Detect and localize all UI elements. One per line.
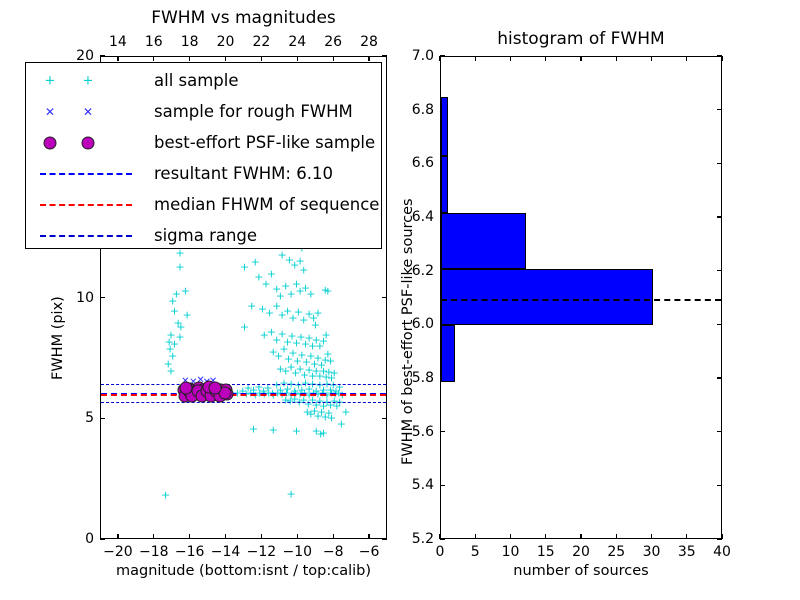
histogram-bar	[441, 213, 526, 269]
hist-x-tick-top	[510, 56, 511, 61]
hist-x-tick-top	[686, 56, 687, 61]
hist-y-tick-label: 5.2	[398, 531, 434, 547]
legend-key	[26, 189, 154, 220]
hist-y-tick	[440, 431, 445, 432]
median-fwhm-line	[101, 394, 386, 396]
x-tick	[333, 534, 334, 539]
bottom-tick-label: −6	[359, 544, 380, 560]
right-plot-xlabel: number of sources	[440, 563, 722, 579]
top-tick-label: 28	[360, 34, 378, 50]
hist-y-tick-right	[717, 216, 722, 217]
top-axis-tick	[225, 56, 226, 61]
legend-item-label: median FHWM of sequence	[154, 195, 379, 214]
bottom-tick-label: −12	[247, 544, 277, 560]
hist-x-tick	[510, 534, 511, 539]
all-sample-point: +	[249, 423, 258, 434]
right-plot-title: histogram of FWHM	[440, 29, 722, 49]
hist-y-tick-label: 5.4	[398, 477, 434, 493]
hist-y-tick	[440, 485, 445, 486]
all-sample-point: +	[269, 425, 278, 436]
x-tick	[153, 534, 154, 539]
cross-icon: ✕	[83, 105, 93, 119]
legend-item: best-effort PSF-like sample	[26, 127, 381, 158]
all-sample-point: +	[166, 365, 175, 376]
bottom-tick-label: −8	[323, 544, 344, 560]
top-axis-tick	[297, 56, 298, 61]
plus-icon: +	[83, 73, 94, 88]
all-sample-point: +	[323, 286, 332, 297]
sigma-lower-line	[101, 402, 386, 403]
hist-x-tick-label: 25	[607, 544, 625, 560]
hist-x-tick-label: 10	[502, 544, 520, 560]
hist-y-tick-right	[717, 538, 722, 539]
y-tick-right	[382, 297, 387, 298]
all-sample-point: +	[327, 413, 336, 424]
psf-sample-point	[180, 381, 193, 394]
hist-x-tick-top	[439, 56, 440, 61]
hist-x-tick	[580, 534, 581, 539]
hist-x-tick-top	[651, 56, 652, 61]
top-tick-label: 18	[181, 34, 199, 50]
legend-key: ✕✕	[26, 96, 154, 127]
filled-dot-icon	[82, 136, 95, 149]
x-tick	[297, 534, 298, 539]
top-axis-tick	[117, 56, 118, 61]
x-tick	[189, 534, 190, 539]
top-axis-tick	[333, 56, 334, 61]
y-tick-right	[382, 55, 387, 56]
y-tick	[100, 55, 105, 56]
y-tick	[100, 538, 105, 539]
x-tick	[368, 534, 369, 539]
x-tick	[225, 534, 226, 539]
legend: ++all sample✕✕sample for rough FWHMbest-…	[25, 62, 382, 249]
hist-y-tick-right	[717, 109, 722, 110]
all-sample-point: +	[287, 489, 296, 500]
x-tick	[117, 534, 118, 539]
hist-x-tick-label: 5	[471, 544, 480, 560]
resultant-fwhm-line	[441, 299, 721, 301]
top-tick-label: 24	[288, 34, 306, 50]
hist-y-tick-right	[717, 270, 722, 271]
top-axis-tick	[189, 56, 190, 61]
all-sample-point: +	[251, 257, 260, 268]
hist-x-tick-top	[721, 56, 722, 61]
hist-y-tick-label: 6.8	[398, 102, 434, 118]
hist-y-tick-right	[717, 55, 722, 56]
hist-x-tick	[651, 534, 652, 539]
all-sample-point: +	[170, 305, 179, 316]
hist-x-tick-top	[545, 56, 546, 61]
legend-item-label: resultant FWHM: 6.10	[154, 164, 333, 183]
left-plot-xlabel: magnitude (bottom:isnt / top:calib)	[100, 563, 387, 579]
hist-y-tick-right	[717, 324, 722, 325]
legend-key: ++	[26, 65, 154, 96]
hist-x-tick-label: 30	[643, 544, 661, 560]
legend-item-label: best-effort PSF-like sample	[154, 133, 375, 152]
left-plot-ylabel: FWHM (pix)	[50, 296, 66, 380]
hist-x-tick	[686, 534, 687, 539]
all-sample-point: +	[313, 307, 322, 318]
hist-y-tick-right	[717, 485, 722, 486]
hist-y-tick	[440, 538, 445, 539]
hist-y-tick-label: 7.0	[398, 48, 434, 64]
all-sample-point: +	[306, 288, 315, 299]
legend-item-label: sigma range	[154, 226, 257, 245]
y-tick-right	[382, 418, 387, 419]
sigma-upper-line	[101, 384, 386, 385]
legend-item: median FHWM of sequence	[26, 189, 381, 220]
hist-y-tick-right	[717, 377, 722, 378]
all-sample-point: +	[319, 427, 328, 438]
hist-y-tick-right	[717, 163, 722, 164]
bottom-tick-label: −14	[211, 544, 241, 560]
all-sample-point: +	[240, 322, 249, 333]
top-tick-label: 20	[217, 34, 235, 50]
y-tick	[100, 418, 105, 419]
bottom-tick-label: −18	[139, 544, 169, 560]
all-sample-point: +	[337, 419, 346, 430]
top-axis-tick	[153, 56, 154, 61]
top-tick-label: 16	[145, 34, 163, 50]
all-sample-point: +	[311, 320, 320, 331]
legend-item: resultant FWHM: 6.10	[26, 158, 381, 189]
hist-x-tick	[616, 534, 617, 539]
psf-sample-point	[208, 381, 221, 394]
histogram-bar	[441, 325, 455, 381]
x-tick	[261, 534, 262, 539]
legend-item: sigma range	[26, 220, 381, 251]
y-tick	[100, 297, 105, 298]
legend-item: ✕✕sample for rough FWHM	[26, 96, 381, 127]
bottom-tick-label: −20	[103, 544, 133, 560]
all-sample-point: +	[267, 269, 276, 280]
hist-x-tick-label: 15	[537, 544, 555, 560]
legend-key	[26, 158, 154, 189]
hist-x-tick	[475, 534, 476, 539]
y-tick-label: 0	[60, 531, 94, 547]
y-tick-right	[382, 538, 387, 539]
legend-item-label: sample for rough FWHM	[154, 102, 353, 121]
bottom-tick-label: −16	[175, 544, 205, 560]
hist-x-tick-label: 35	[678, 544, 696, 560]
dashed-line-icon	[40, 173, 132, 175]
hist-x-tick	[545, 534, 546, 539]
all-sample-point: +	[247, 300, 256, 311]
top-tick-label: 14	[109, 34, 127, 50]
all-sample-point: +	[322, 329, 331, 340]
plus-icon: +	[45, 73, 56, 88]
all-sample-point: +	[176, 322, 185, 333]
legend-key	[26, 127, 154, 158]
filled-dot-icon	[44, 136, 57, 149]
left-plot-title: FWHM vs magnitudes	[100, 8, 387, 28]
all-sample-point: +	[299, 264, 308, 275]
top-tick-label: 26	[324, 34, 342, 50]
dashdot-line-icon	[40, 235, 132, 237]
all-sample-point: +	[161, 490, 170, 501]
all-sample-point: +	[181, 286, 190, 297]
bottom-tick-label: −10	[283, 544, 313, 560]
histogram-bar	[441, 269, 653, 325]
hist-y-tick-label: 6.6	[398, 155, 434, 171]
top-tick-label: 22	[253, 34, 271, 50]
all-sample-point: +	[175, 262, 184, 273]
y-tick-label: 5	[60, 410, 94, 426]
hist-y-tick	[440, 55, 445, 56]
hist-y-tick-right	[717, 431, 722, 432]
hist-x-tick-label: 40	[713, 544, 731, 560]
all-sample-point: +	[170, 339, 179, 350]
histogram-bar	[441, 97, 448, 156]
all-sample-point: +	[182, 310, 191, 321]
legend-key	[26, 220, 154, 251]
legend-item-label: all sample	[154, 71, 239, 90]
legend-item: ++all sample	[26, 65, 381, 96]
cross-icon: ✕	[45, 105, 55, 119]
top-axis-tick	[368, 56, 369, 61]
right-plot-ylabel: FWHM of best-effort PSF-like sources	[400, 198, 416, 465]
dashed-line-icon	[40, 204, 132, 206]
top-axis-tick	[261, 56, 262, 61]
right-plot-surface	[441, 57, 721, 538]
hist-x-tick-label: 0	[436, 544, 445, 560]
figure-canvas: FWHM vs magnitudes +++++++++++++++++++++…	[0, 0, 800, 600]
all-sample-point: +	[292, 426, 301, 437]
hist-x-tick-top	[475, 56, 476, 61]
hist-x-tick-label: 20	[572, 544, 590, 560]
hist-x-tick-top	[616, 56, 617, 61]
hist-x-tick-top	[580, 56, 581, 61]
all-sample-point: +	[341, 407, 350, 418]
histogram-bar	[441, 156, 448, 212]
all-sample-point: +	[240, 262, 249, 273]
histogram-of-fwhm-axes	[440, 56, 722, 539]
